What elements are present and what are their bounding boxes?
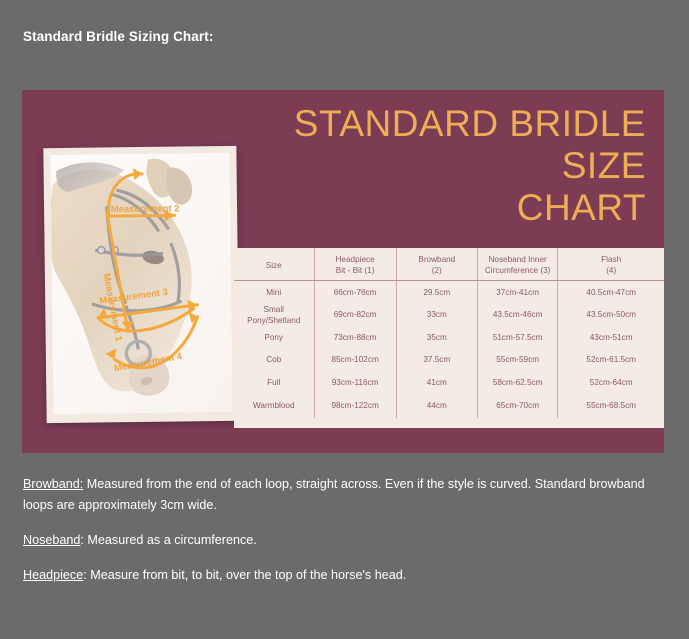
cell-size: Warmblood <box>234 394 314 418</box>
table-row: Small Pony/Shetland 69cm-82cm 33cm 43.5c… <box>234 304 664 327</box>
size-table-body: Mini 66cm-76cm 29.5cm 37cm-41cm 40.5cm-4… <box>234 281 664 418</box>
table-row: Cob 85cm-102cm 37.5cm 55cm-59cm 52cm-61.… <box>234 349 664 372</box>
col-header-noseband: Noseband Inner Circumference (3) <box>477 248 558 281</box>
page-title: Standard Bridle Sizing Chart: <box>23 29 213 44</box>
measurement-2-label: Measurement 2 <box>111 203 180 215</box>
note-browband: Browband: Measured from the end of each … <box>23 474 663 516</box>
size-table: Size Headpiece Bit - Bit (1) Browband (2… <box>234 248 664 418</box>
cell-browband: 35cm <box>396 326 477 349</box>
col-header-flash: Flash (4) <box>558 248 664 281</box>
cell-flash: 43.5cm-50cm <box>558 304 664 327</box>
cell-headpiece: 85cm-102cm <box>314 349 396 372</box>
cell-headpiece: 98cm-122cm <box>314 394 396 418</box>
col-header-headpiece-line2: Bit - Bit (1) <box>315 265 396 276</box>
measurement-notes: Browband: Measured from the end of each … <box>23 474 663 600</box>
cell-size: Small Pony/Shetland <box>234 304 314 327</box>
cell-noseband: 37cm-41cm <box>477 281 558 304</box>
horse-bridle-diagram: Measurement 1 Measurement 2 Measurement … <box>50 153 232 414</box>
cell-flash: 52cm-64cm <box>558 371 664 394</box>
col-header-browband-line2: (2) <box>397 265 477 276</box>
horse-photo-frame: Measurement 1 Measurement 2 Measurement … <box>43 146 239 423</box>
cell-headpiece: 93cm-116cm <box>314 371 396 394</box>
note-noseband-text: : Measured as a circumference. <box>80 533 256 547</box>
col-header-size-line1: Size <box>266 261 282 270</box>
table-row: Pony 73cm-88cm 35cm 51cm-57.5cm 43cm-51c… <box>234 326 664 349</box>
cell-size: Pony <box>234 326 314 349</box>
table-header-row: Size Headpiece Bit - Bit (1) Browband (2… <box>234 248 664 281</box>
note-browband-term: Browband: <box>23 477 83 491</box>
col-header-browband: Browband (2) <box>396 248 477 281</box>
note-noseband: Noseband: Measured as a circumference. <box>23 530 663 551</box>
cell-flash: 55cm-68.5cm <box>558 394 664 418</box>
col-header-headpiece-line1: Headpiece <box>336 255 375 264</box>
cell-browband: 37.5cm <box>396 349 477 372</box>
note-browband-text: Measured from the end of each loop, stra… <box>23 477 645 512</box>
cell-browband: 41cm <box>396 371 477 394</box>
size-chart-card: STANDARD BRIDLE SIZE CHART <box>22 90 664 453</box>
cell-flash: 43cm-51cm <box>558 326 664 349</box>
horse-photo: Measurement 1 Measurement 2 Measurement … <box>50 153 232 414</box>
col-header-browband-line1: Browband <box>418 255 455 264</box>
cell-noseband: 43.5cm-46cm <box>477 304 558 327</box>
table-row: Full 93cm-116cm 41cm 58cm-62.5cm 52cm-64… <box>234 371 664 394</box>
cell-browband: 29.5cm <box>396 281 477 304</box>
cell-headpiece: 73cm-88cm <box>314 326 396 349</box>
cell-noseband: 58cm-62.5cm <box>477 371 558 394</box>
table-row: Warmblood 98cm-122cm 44cm 65cm-70cm 55cm… <box>234 394 664 418</box>
col-header-noseband-line1: Noseband Inner <box>489 255 547 264</box>
size-table-header: Size Headpiece Bit - Bit (1) Browband (2… <box>234 248 664 281</box>
table-row: Mini 66cm-76cm 29.5cm 37cm-41cm 40.5cm-4… <box>234 281 664 304</box>
note-headpiece: Headpiece: Measure from bit, to bit, ove… <box>23 565 663 586</box>
col-header-noseband-line2: Circumference (3) <box>478 265 558 276</box>
card-title: STANDARD BRIDLE SIZE CHART <box>216 103 646 229</box>
note-headpiece-term: Headpiece <box>23 568 83 582</box>
note-headpiece-text: : Measure from bit, to bit, over the top… <box>83 568 406 582</box>
col-header-size: Size <box>234 248 314 281</box>
cell-flash: 40.5cm-47cm <box>558 281 664 304</box>
cell-headpiece: 69cm-82cm <box>314 304 396 327</box>
cell-browband: 33cm <box>396 304 477 327</box>
cell-flash: 52cm-61.5cm <box>558 349 664 372</box>
cell-browband: 44cm <box>396 394 477 418</box>
col-header-flash-line2: (4) <box>558 265 664 276</box>
cell-size: Mini <box>234 281 314 304</box>
note-noseband-term: Noseband <box>23 533 80 547</box>
cell-size: Cob <box>234 349 314 372</box>
cell-size: Full <box>234 371 314 394</box>
size-table-panel: Size Headpiece Bit - Bit (1) Browband (2… <box>234 248 664 428</box>
cell-headpiece: 66cm-76cm <box>314 281 396 304</box>
cell-noseband: 51cm-57.5cm <box>477 326 558 349</box>
cell-noseband: 55cm-59cm <box>477 349 558 372</box>
cell-noseband: 65cm-70cm <box>477 394 558 418</box>
col-header-headpiece: Headpiece Bit - Bit (1) <box>314 248 396 281</box>
col-header-flash-line1: Flash <box>601 255 621 264</box>
